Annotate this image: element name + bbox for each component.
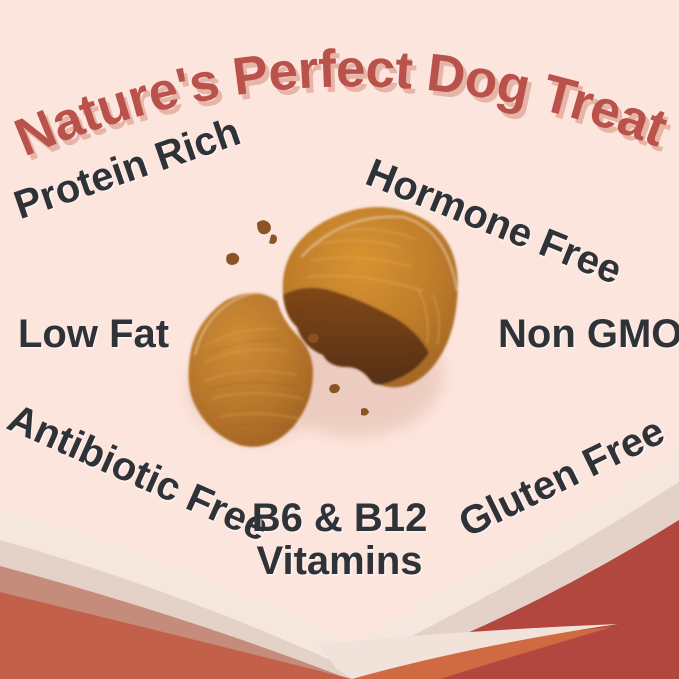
wave-terracotta <box>0 592 352 679</box>
feature-label-vitamins-line2: Vitamins <box>0 540 679 583</box>
feature-label-vitamins-line1: B6 & B12 <box>0 497 679 540</box>
poster-title: Nature's Perfect Dog Treat Nature's Perf… <box>0 36 679 166</box>
feature-label-vitamins: B6 & B12 Vitamins <box>0 497 679 583</box>
feature-label-non-gmo: Non GMO <box>498 313 679 356</box>
feature-label-low-fat: Low Fat <box>18 313 169 356</box>
wave-cream-sliver <box>318 624 618 679</box>
broken-dog-treat-photo <box>165 195 465 465</box>
poster-canvas: Nature's Perfect Dog Treat Nature's Perf… <box>0 0 679 679</box>
wave-orange-wedge <box>352 627 612 679</box>
